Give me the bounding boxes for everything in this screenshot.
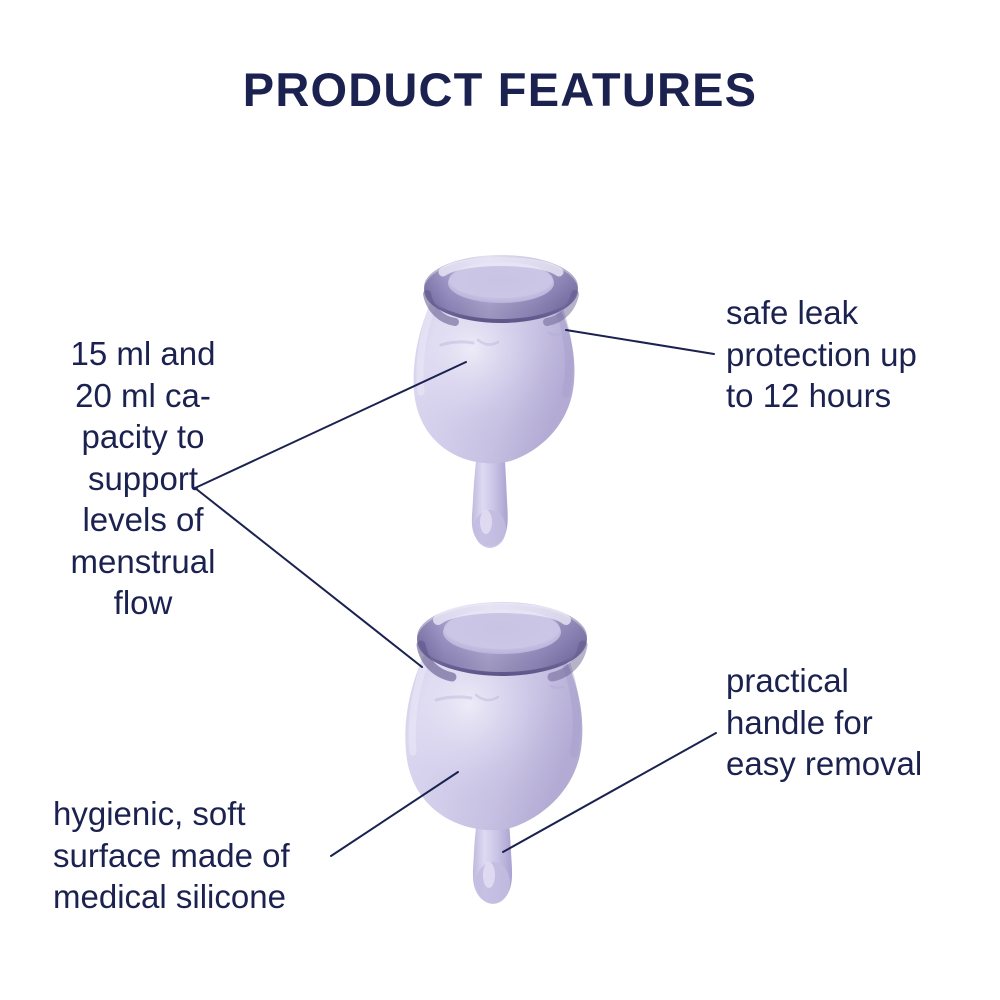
product-features-infographic: PRODUCT FEATURES 15 ml and 20 ml ca- pac… [0,0,1000,1000]
callout-handle: practical handle for easy removal [726,660,976,785]
page-title: PRODUCT FEATURES [0,62,1000,117]
menstrual-cup-upper [414,255,578,548]
callout-hygienic: hygienic, soft surface made of medical s… [53,793,343,918]
callout-leak-protection: safe leak protection up to 12 hours [726,292,976,417]
menstrual-cup-lower [405,602,587,904]
callout-capacity: 15 ml and 20 ml ca- pacity to support le… [48,333,238,624]
